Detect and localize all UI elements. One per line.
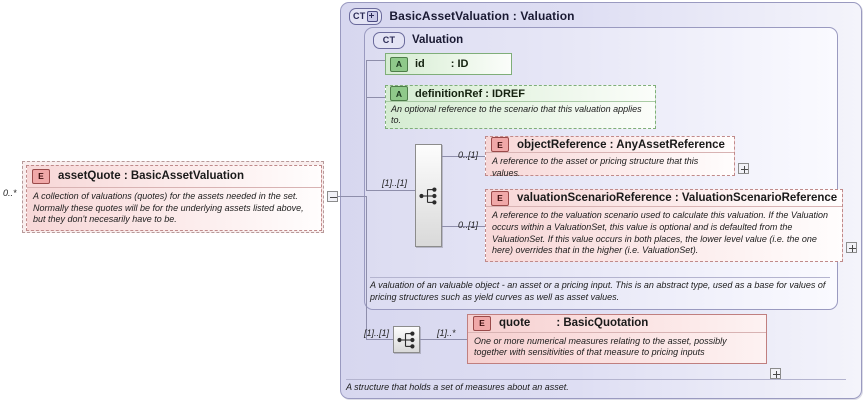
attribute-definitionref-row: A definitionRef : IDREF [386,86,655,101]
sequence-compositor-1[interactable] [415,144,442,247]
complextype-header: CT BasicAssetValuation : Valuation [341,3,861,29]
element-assetquote[interactable]: E assetQuote : BasicAssetValuation A col… [26,165,322,231]
element-quote-type: : BasicQuotation [556,317,648,329]
element-objectreference-label: objectReference : AnyAssetReference [517,139,725,151]
element-objectreference-header: E objectReference : AnyAssetReference [486,137,734,152]
attribute-definitionref-documentation: An optional reference to the scenario th… [386,101,655,130]
plus-toggle-quote[interactable] [770,368,781,379]
attribute-id-type: : ID [451,58,469,70]
page-title: BasicAssetValuation : Valuation [389,9,574,23]
element-assetquote-documentation: A collection of valuations (quotes) for … [27,187,321,230]
connector-to-attribute-definitionref [366,97,385,98]
attribute-badge-icon: A [390,86,408,101]
cardinality-assetquote: 0..* [3,188,17,198]
sequence-compositor-2[interactable] [393,326,420,353]
element-quote-label: quote [499,317,530,329]
attribute-id[interactable]: A id : ID [385,53,512,75]
cardinality-valuationscenarioreference: 0..[1] [458,220,478,230]
connector-to-attribute-id [366,60,385,61]
plus-toggle-objectreference[interactable] [738,163,749,174]
element-badge-icon: E [491,191,509,206]
attribute-definitionref-name: definitionRef : IDREF [415,88,525,100]
ct-inner-badge-label: CT [383,35,395,45]
sequence-icon [397,331,417,349]
cardinality-objectreference: 0..[1] [458,150,478,160]
element-badge-icon: E [491,137,509,152]
connector-into-sequence-1 [366,190,415,191]
complextype-basicassetvaluation-documentation: A structure that holds a set of measures… [346,379,846,394]
element-badge-icon: E [32,169,50,184]
element-quote-header: E quote : BasicQuotation [468,315,766,332]
element-valuationscenarioreference-label: valuationScenarioReference : ValuationSc… [517,192,837,204]
attribute-id-name: id [415,58,425,70]
cardinality-sequence-1: [1]..[1] [382,178,407,188]
element-valuationscenarioreference-documentation: A reference to the valuation scenario us… [486,206,842,261]
complextype-inner-header: CT Valuation [365,28,837,52]
cardinality-sequence-2-in: [1]..[1] [364,328,389,338]
cardinality-sequence-2-out: [1]..* [437,328,456,338]
sequence-icon [419,187,439,205]
ct-badge-plus-icon [367,11,378,22]
element-quote[interactable]: E quote : BasicQuotation One or more num… [467,314,767,364]
complextype-valuation-documentation: A valuation of an valuable object - an a… [370,277,830,304]
element-objectreference-documentation: A reference to the asset or pricing stru… [486,152,734,183]
element-quote-documentation: One or more numerical measures relating … [468,332,766,363]
assetquote-dashed-container: E assetQuote : BasicAssetValuation A col… [22,161,324,233]
ct-badge-icon[interactable]: CT [349,8,382,25]
attribute-definitionref[interactable]: A definitionRef : IDREF An optional refe… [385,85,656,129]
connector-assetquote-to-panel [338,196,366,197]
ct-inner-badge-icon[interactable]: CT [373,32,405,49]
connector-to-quote [420,339,467,340]
element-objectreference[interactable]: E objectReference : AnyAssetReference A … [485,136,735,176]
plus-toggle-valuationscenarioreference[interactable] [846,242,857,253]
connector-vertical-to-quote [366,196,367,340]
element-assetquote-label: assetQuote : BasicAssetValuation [58,170,244,182]
element-valuationscenarioreference[interactable]: E valuationScenarioReference : Valuation… [485,189,843,262]
schema-diagram-canvas: CT BasicAssetValuation : Valuation CT Va… [0,0,865,401]
complextype-inner-title: Valuation [412,34,463,46]
attribute-badge-icon: A [390,57,408,72]
attribute-id-row: A id : ID [386,54,511,74]
element-badge-icon: E [473,316,491,331]
element-valuationscenarioreference-header: E valuationScenarioReference : Valuation… [486,190,842,206]
ct-badge-label: CT [353,11,365,21]
connector-vertical-spine [366,60,367,191]
minus-toggle-assetquote[interactable] [327,191,338,202]
connector-into-sequence-2 [366,339,393,340]
element-assetquote-header: E assetQuote : BasicAssetValuation [27,166,321,187]
